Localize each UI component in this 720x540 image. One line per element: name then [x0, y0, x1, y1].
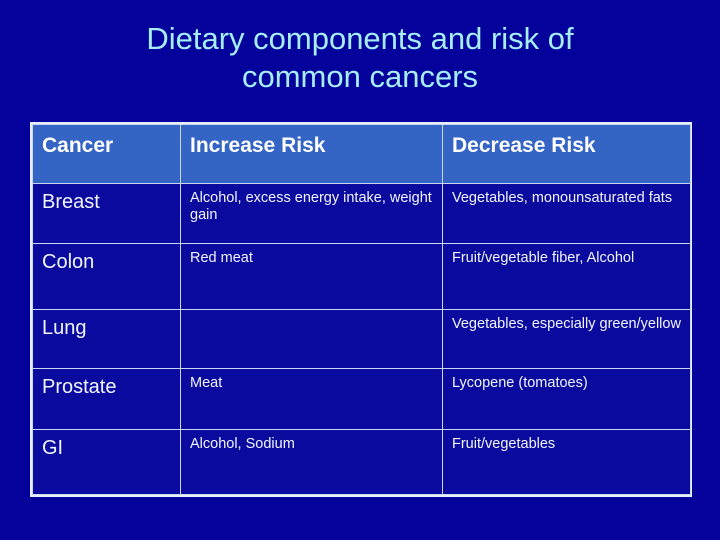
- table-row: GI Alcohol, Sodium Fruit/vegetables: [33, 430, 691, 495]
- column-header-increase-risk: Increase Risk: [181, 125, 443, 184]
- cell-cancer: Prostate: [33, 369, 181, 430]
- cell-increase-risk: Alcohol, excess energy intake, weight ga…: [181, 184, 443, 244]
- cell-cancer: Breast: [33, 184, 181, 244]
- table-row: Colon Red meat Fruit/vegetable fiber, Al…: [33, 243, 691, 309]
- cell-increase-risk: Red meat: [181, 243, 443, 309]
- table-header: Cancer Increase Risk Decrease Risk: [33, 125, 691, 184]
- table-row: Breast Alcohol, excess energy intake, we…: [33, 184, 691, 244]
- cell-increase-risk: [181, 309, 443, 369]
- table-row: Prostate Meat Lycopene (tomatoes): [33, 369, 691, 430]
- dietary-risk-table: Cancer Increase Risk Decrease Risk Breas…: [32, 124, 691, 495]
- cell-decrease-risk: Fruit/vegetable fiber, Alcohol: [443, 243, 691, 309]
- column-header-decrease-risk: Decrease Risk: [443, 125, 691, 184]
- cell-cancer: Colon: [33, 243, 181, 309]
- page-title: Dietary components and risk of common ca…: [0, 20, 720, 96]
- cell-cancer: GI: [33, 430, 181, 495]
- cell-decrease-risk: Fruit/vegetables: [443, 430, 691, 495]
- cell-decrease-risk: Vegetables, monounsaturated fats: [443, 184, 691, 244]
- cell-decrease-risk: Vegetables, especially green/yellow: [443, 309, 691, 369]
- slide: Dietary components and risk of common ca…: [0, 0, 720, 540]
- cell-decrease-risk: Lycopene (tomatoes): [443, 369, 691, 430]
- cell-cancer: Lung: [33, 309, 181, 369]
- column-header-cancer: Cancer: [33, 125, 181, 184]
- table-row: Lung Vegetables, especially green/yellow: [33, 309, 691, 369]
- cell-increase-risk: Alcohol, Sodium: [181, 430, 443, 495]
- table-header-row: Cancer Increase Risk Decrease Risk: [33, 125, 691, 184]
- risk-table-frame: Cancer Increase Risk Decrease Risk Breas…: [30, 122, 692, 497]
- table-body: Breast Alcohol, excess energy intake, we…: [33, 184, 691, 495]
- cell-increase-risk: Meat: [181, 369, 443, 430]
